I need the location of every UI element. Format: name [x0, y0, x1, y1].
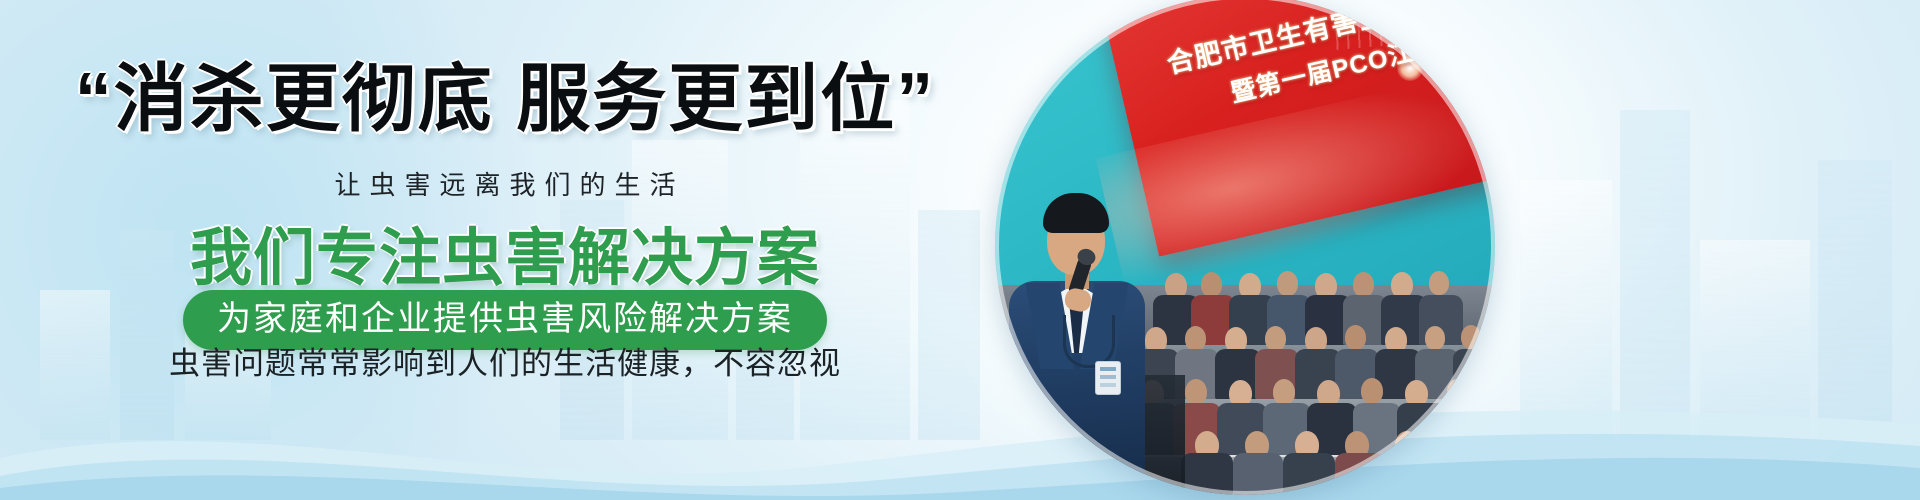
page-title: “消杀更彻底 服务更到位” [0, 62, 1010, 136]
person-torso [1181, 453, 1233, 495]
pill-container: 为家庭和企业提供虫害风险解决方案 [0, 290, 1010, 350]
promo-banner: “消杀更彻底 服务更到位” 让虫害远离我们的生活 我们专注虫害解决方案 为家庭和… [0, 0, 1920, 500]
person-head [1265, 326, 1286, 351]
person-head [1447, 379, 1468, 404]
person-head [1461, 325, 1481, 349]
person-torso [1385, 453, 1437, 495]
speaker-figure [1003, 165, 1153, 495]
footer-note: 虫害问题常常影响到人们的生活健康，不容忽视 [0, 348, 1010, 379]
person-torso [1283, 453, 1335, 495]
green-headline: 我们专注虫害解决方案 [0, 228, 1010, 290]
person-head [1185, 379, 1207, 405]
person-head [1429, 271, 1449, 295]
person-head [1345, 325, 1366, 350]
conference-photo: 市卫生有害生物防制协会 合肥市卫生有害生物防制协会2023 暨第一届PCO江淮论… [995, 0, 1495, 495]
person-head [1353, 272, 1374, 297]
person-head [1273, 379, 1295, 405]
person-head [1361, 378, 1383, 404]
speaker-hair [1043, 193, 1109, 233]
person-head [1425, 326, 1445, 350]
service-pill-badge: 为家庭和企业提供虫害风险解决方案 [183, 290, 827, 350]
speaker-badge [1095, 361, 1121, 395]
person-head [1185, 326, 1206, 351]
stage-spotlight [1397, 55, 1423, 81]
person-head [1201, 272, 1222, 297]
person-head [1277, 271, 1298, 296]
person-torso [1335, 453, 1385, 495]
subtitle: 让虫害远离我们的生活 [0, 172, 1010, 198]
person-torso [1233, 453, 1283, 495]
person-torso [1435, 453, 1485, 495]
banner-copy: “消杀更彻底 服务更到位” 让虫害远离我们的生活 我们专注虫害解决方案 为家庭和… [0, 0, 1010, 500]
